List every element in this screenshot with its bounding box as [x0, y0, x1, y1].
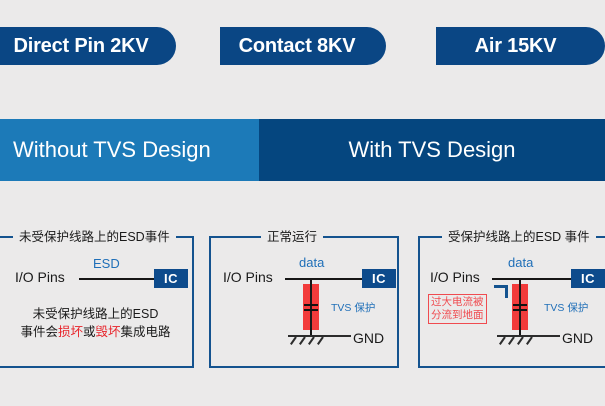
signal-wire-1 — [285, 278, 364, 280]
ground-label-2: GND — [562, 330, 593, 346]
tvs-zener-bar-top-1 — [304, 304, 318, 306]
pill-direct-pin[interactable]: Direct Pin 2KV — [0, 27, 176, 65]
tvs-zener-bar-bottom-2 — [513, 309, 527, 311]
overcurrent-shunt-note-line2: 分流到地面 — [431, 309, 484, 322]
overcurrent-shunt-note-line1: 过大电流被 — [431, 296, 484, 309]
tvs-diode-1 — [303, 284, 319, 330]
banner-with-tvs: With TVS Design — [259, 119, 605, 181]
io-pins-label-1: I/O Pins — [223, 269, 273, 285]
tvs-zener-bar-top-2 — [513, 304, 527, 306]
panel-unprotected-body: I/O Pins ESD IC 未受保护线路上的ESD 事件会损坏或毁坏集成电路 — [0, 238, 192, 366]
tvs-diode-2 — [512, 284, 528, 330]
ground-hatch-1b — [299, 336, 306, 345]
ground-hatch-2c — [517, 336, 524, 345]
io-pins-label-0: I/O Pins — [15, 269, 65, 285]
panel-normal-operation: 正常运行 I/O Pins data IC GND TVS 保护 — [209, 236, 399, 368]
io-pins-label-2: I/O Pins — [430, 269, 480, 285]
esd-rating-pill-row: Direct Pin 2KV Contact 8KV Air 15KV — [0, 27, 605, 65]
panel-unprotected: 未受保护线路上的ESD事件 I/O Pins ESD IC 未受保护线路上的ES… — [0, 236, 194, 368]
pill-direct-pin-label: Direct Pin 2KV — [13, 35, 148, 58]
ground-label-1: GND — [353, 330, 384, 346]
panel-unprotected-caption-line2: 事件会损坏或毁坏集成电路 — [0, 323, 192, 341]
ic-block-1-label: IC — [372, 271, 386, 286]
circuit-diagram-panels: 未受保护线路上的ESD事件 I/O Pins ESD IC 未受保护线路上的ES… — [0, 236, 605, 370]
ic-block-2-label: IC — [581, 271, 595, 286]
ground-hatch-2b — [508, 336, 515, 345]
ic-block-0-label: IC — [164, 271, 178, 286]
tvs-protection-note-1: TVS 保护 — [331, 300, 375, 315]
ic-block-0: IC — [154, 269, 188, 288]
tvs-zener-bar-bottom-1 — [304, 309, 318, 311]
ground-hatch-1a — [290, 336, 297, 345]
pill-air[interactable]: Air 15KV — [436, 27, 605, 65]
pill-air-label: Air 15KV — [475, 35, 557, 58]
panel-protected-esd-body: I/O Pins data IC GND TVS 保护 — [420, 238, 605, 366]
pill-contact-label: Contact 8KV — [239, 35, 356, 58]
ground-bar-2 — [497, 335, 560, 337]
esd-signal-label: ESD — [93, 256, 120, 271]
ground-hatch-2a — [499, 336, 506, 345]
current-shunt-arrow-icon — [494, 285, 508, 298]
data-signal-label-2: data — [508, 255, 533, 270]
tvs-diode-body-2 — [519, 284, 521, 330]
panel-normal-operation-body: I/O Pins data IC GND TVS 保护 — [211, 238, 397, 366]
banner-without-tvs: Without TVS Design — [0, 119, 259, 181]
banner-with-tvs-label: With TVS Design — [348, 137, 515, 163]
ic-block-2: IC — [571, 269, 605, 288]
caption-seg-red1: 损坏 — [58, 325, 83, 339]
overcurrent-shunt-note: 过大电流被 分流到地面 — [428, 294, 487, 324]
caption-seg-red2: 毁坏 — [96, 325, 121, 339]
pill-contact[interactable]: Contact 8KV — [220, 27, 386, 65]
data-signal-label-1: data — [299, 255, 324, 270]
tvs-protection-note-2: TVS 保护 — [544, 300, 588, 315]
ground-bar-1 — [288, 335, 351, 337]
ground-hatch-1c — [308, 336, 315, 345]
comparison-banner: Without TVS Design With TVS Design — [0, 119, 605, 181]
ground-hatch-1d — [317, 336, 324, 345]
tvs-diode-body-1 — [310, 284, 312, 330]
caption-seg-b: 或 — [83, 325, 96, 339]
panel-unprotected-caption-line1: 未受保护线路上的ESD — [0, 305, 192, 323]
caption-seg-a: 事件会 — [20, 325, 58, 339]
caption-seg-c: 集成电路 — [121, 325, 171, 339]
signal-wire-2 — [492, 278, 573, 280]
banner-without-tvs-label: Without TVS Design — [13, 137, 211, 163]
ground-hatch-2d — [526, 336, 533, 345]
ic-block-1: IC — [362, 269, 396, 288]
panel-protected-esd: 受保护线路上的ESD 事件 I/O Pins data IC — [418, 236, 605, 368]
signal-wire-0 — [79, 278, 157, 280]
